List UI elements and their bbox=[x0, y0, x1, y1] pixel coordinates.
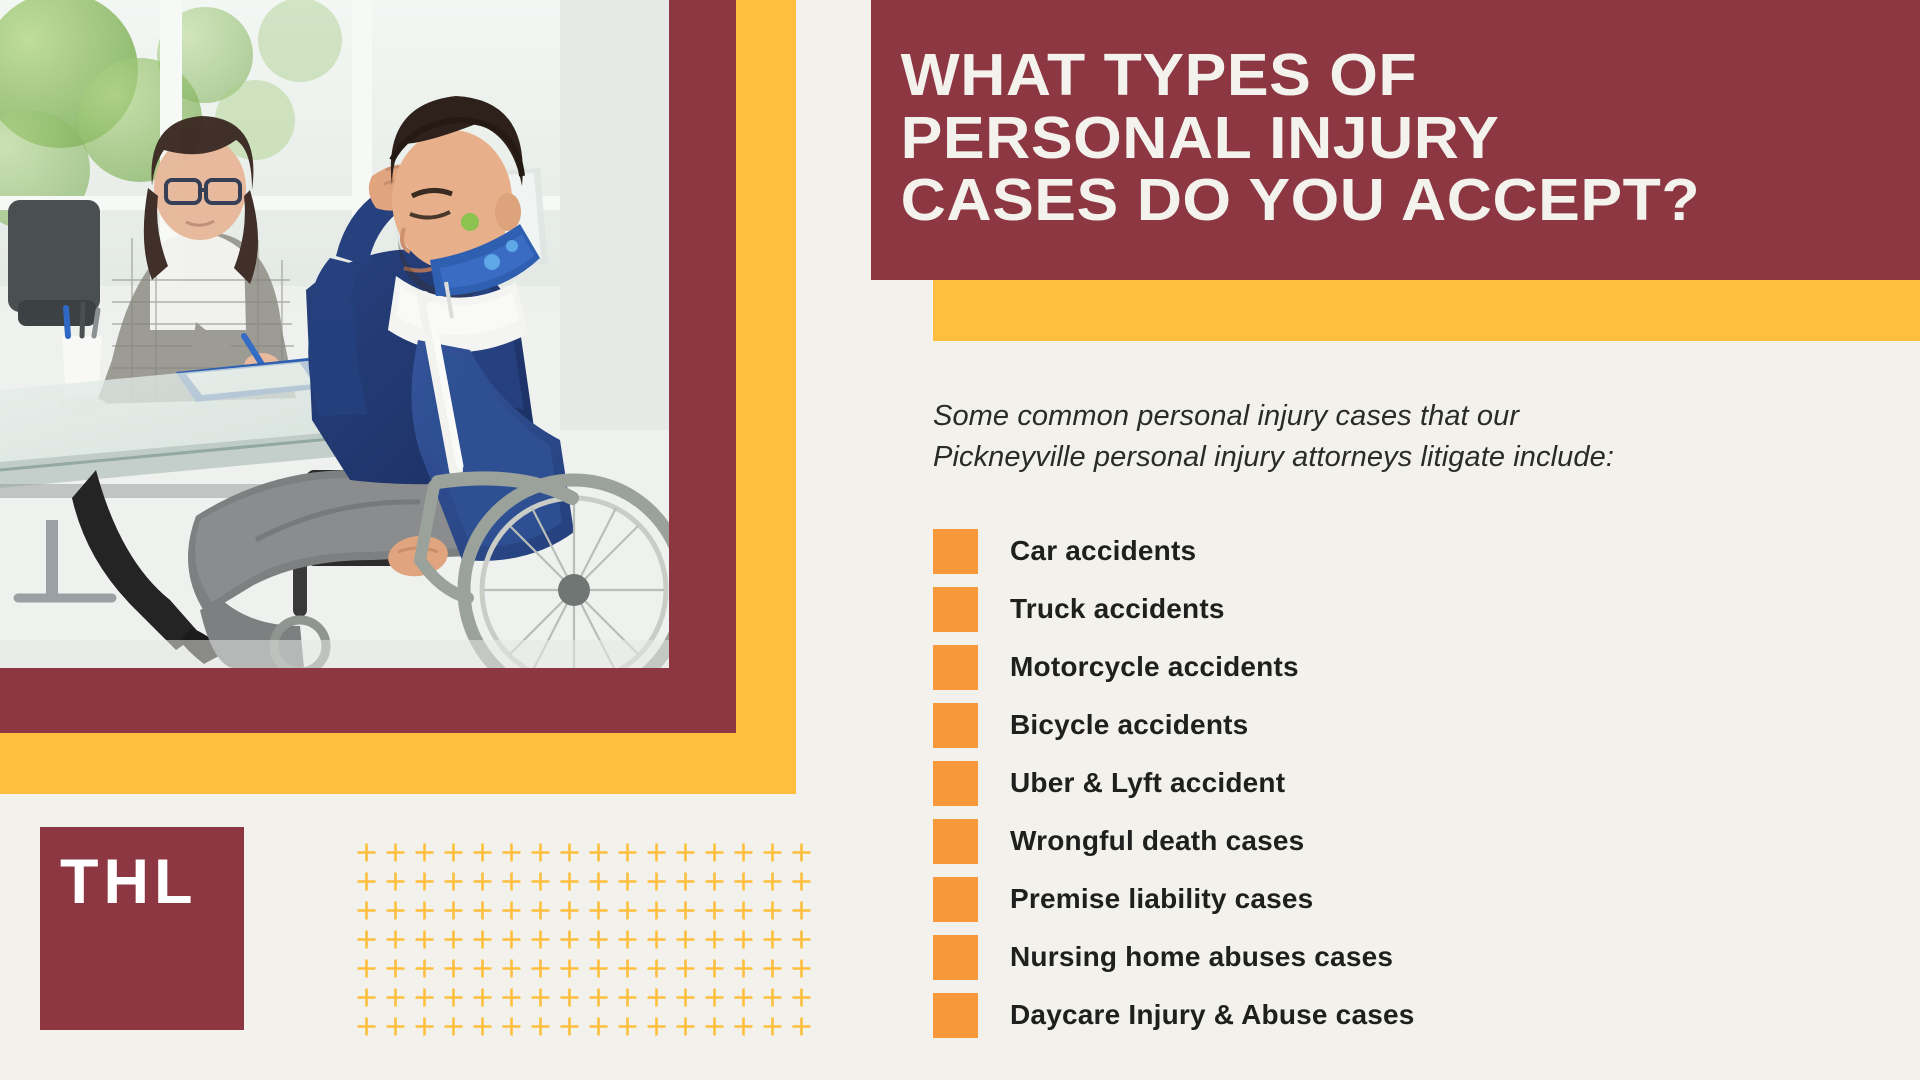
case-list-item-label: Bicycle accidents bbox=[1010, 709, 1248, 741]
case-list-item-label: Motorcycle accidents bbox=[1010, 651, 1299, 683]
bullet-square-icon bbox=[933, 703, 978, 748]
plus-grid-decoration bbox=[352, 838, 802, 1048]
bullet-square-icon bbox=[933, 993, 978, 1038]
case-list-item: Car accidents bbox=[933, 522, 1833, 580]
case-list-item-label: Wrongful death cases bbox=[1010, 825, 1304, 857]
case-list-item: Premise liability cases bbox=[933, 870, 1833, 928]
headline-block: WHAT TYPES OF PERSONAL INJURY CASES DO Y… bbox=[871, 0, 1920, 280]
case-list-item-label: Uber & Lyft accident bbox=[1010, 767, 1285, 799]
case-list-item: Wrongful death cases bbox=[933, 812, 1833, 870]
bullet-square-icon bbox=[933, 819, 978, 864]
case-list-item-label: Nursing home abuses cases bbox=[1010, 941, 1393, 973]
case-list-item: Truck accidents bbox=[933, 580, 1833, 638]
case-types-list: Car accidentsTruck accidentsMotorcycle a… bbox=[933, 522, 1833, 1044]
logo-tile: THL bbox=[40, 827, 244, 1030]
intro-paragraph: Some common personal injury cases that o… bbox=[933, 396, 1893, 478]
case-list-item-label: Car accidents bbox=[1010, 535, 1196, 567]
case-list-item-label: Premise liability cases bbox=[1010, 883, 1313, 915]
hero-photo bbox=[0, 0, 669, 668]
bullet-square-icon bbox=[933, 529, 978, 574]
bullet-square-icon bbox=[933, 877, 978, 922]
bullet-square-icon bbox=[933, 761, 978, 806]
case-list-item: Uber & Lyft accident bbox=[933, 754, 1833, 812]
logo-text: THL bbox=[60, 851, 197, 914]
title-accent-bar bbox=[933, 280, 1920, 341]
page-title: WHAT TYPES OF PERSONAL INJURY CASES DO Y… bbox=[871, 44, 1700, 236]
case-list-item: Nursing home abuses cases bbox=[933, 928, 1833, 986]
case-list-item: Bicycle accidents bbox=[933, 696, 1833, 754]
case-list-item: Motorcycle accidents bbox=[933, 638, 1833, 696]
case-list-item-label: Truck accidents bbox=[1010, 593, 1225, 625]
case-list-item-label: Daycare Injury & Abuse cases bbox=[1010, 999, 1415, 1031]
case-list-item: Daycare Injury & Abuse cases bbox=[933, 986, 1833, 1044]
bullet-square-icon bbox=[933, 645, 978, 690]
bullet-square-icon bbox=[933, 935, 978, 980]
bullet-square-icon bbox=[933, 587, 978, 632]
